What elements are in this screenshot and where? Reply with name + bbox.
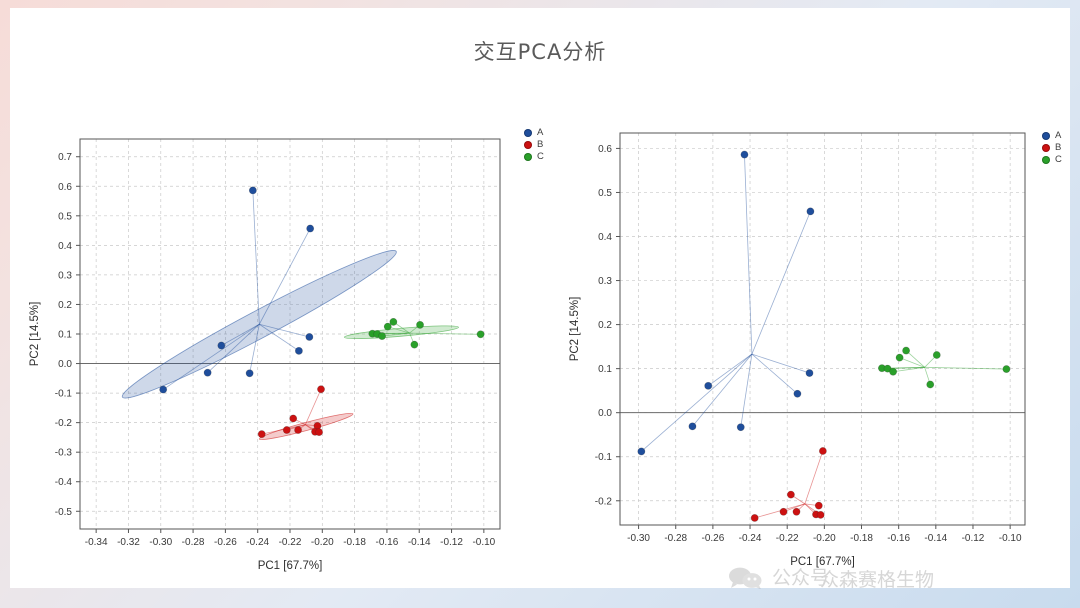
x-tick-label: -0.18 (343, 537, 366, 548)
legend-swatch-b-icon (524, 141, 532, 149)
legend-item-b[interactable]: B (524, 139, 544, 151)
data-point-c[interactable] (384, 323, 391, 330)
data-point-a[interactable] (737, 424, 744, 431)
legend-label-c: C (1055, 154, 1062, 166)
data-point-a[interactable] (638, 448, 645, 455)
y-tick-label: 0.4 (58, 241, 72, 252)
wechat-icon (728, 567, 764, 589)
data-point-a[interactable] (794, 390, 801, 397)
data-point-a[interactable] (246, 370, 253, 377)
y-tick-label: -0.3 (55, 448, 73, 459)
legend-item-a[interactable]: A (1042, 130, 1062, 142)
x-tick-label: -0.30 (627, 533, 650, 544)
x-tick-label: -0.20 (813, 533, 836, 544)
y-tick-label: 0.5 (598, 188, 612, 199)
legend-item-b[interactable]: B (1042, 142, 1062, 154)
data-point-a[interactable] (705, 382, 712, 389)
y-tick-label: 0.2 (598, 320, 612, 331)
data-point-a[interactable] (307, 225, 314, 232)
slide-page: 交互PCA分析 -0.34-0.32-0.30-0.28-0.26-0.24-0… (0, 0, 1080, 608)
data-point-b[interactable] (258, 431, 265, 438)
data-point-c[interactable] (927, 381, 934, 388)
pca-plot-right-svg[interactable]: -0.30-0.28-0.26-0.24-0.22-0.20-0.18-0.16… (545, 113, 1070, 573)
legend-swatch-c-icon (524, 153, 532, 161)
y-tick-label: 0.5 (58, 211, 72, 222)
data-point-c[interactable] (903, 347, 910, 354)
x-tick-label: -0.10 (999, 533, 1022, 544)
legend-item-c[interactable]: C (524, 151, 544, 163)
data-point-c[interactable] (933, 351, 940, 358)
x-tick-label: -0.24 (246, 537, 269, 548)
y-tick-label: 0.6 (58, 182, 72, 193)
data-point-c[interactable] (889, 368, 896, 375)
y-axis-label: PC2 [14.5%] (29, 302, 41, 367)
y-tick-label: -0.2 (595, 496, 613, 507)
x-tick-label: -0.14 (408, 537, 431, 548)
legend-item-a[interactable]: A (524, 127, 544, 139)
data-point-a[interactable] (218, 342, 225, 349)
x-tick-label: -0.30 (149, 537, 172, 548)
data-point-b[interactable] (317, 386, 324, 393)
data-point-a[interactable] (741, 151, 748, 158)
legend-label-c: C (537, 151, 544, 163)
y-tick-label: 0.3 (598, 276, 612, 287)
legend-swatch-c-icon (1042, 156, 1050, 164)
y-tick-label: 0.3 (58, 270, 72, 281)
data-point-b[interactable] (294, 426, 301, 433)
legend-item-c[interactable]: C (1042, 154, 1062, 166)
data-point-c[interactable] (411, 341, 418, 348)
data-point-a[interactable] (249, 187, 256, 194)
x-tick-label: -0.26 (701, 533, 724, 544)
x-tick-label: -0.12 (440, 537, 463, 548)
y-axis-label: PC2 [14.5%] (569, 297, 581, 362)
y-tick-label: -0.1 (55, 389, 73, 400)
x-tick-label: -0.14 (924, 533, 947, 544)
pca-plot-left-svg[interactable]: -0.34-0.32-0.30-0.28-0.26-0.24-0.22-0.20… (10, 113, 555, 573)
x-tick-label: -0.32 (117, 537, 140, 548)
x-tick-label: -0.20 (311, 537, 334, 548)
x-tick-label: -0.16 (887, 533, 910, 544)
y-tick-label: -0.4 (55, 477, 73, 488)
x-tick-label: -0.22 (776, 533, 799, 544)
y-tick-label: 0.2 (58, 300, 72, 311)
data-point-c[interactable] (378, 332, 385, 339)
x-tick-label: -0.26 (214, 537, 237, 548)
watermark: 公众号 众森赛格生物 (728, 561, 1068, 595)
legend-label-b: B (1055, 142, 1061, 154)
y-tick-label: 0.1 (58, 330, 72, 341)
y-tick-label: 0.7 (58, 152, 72, 163)
y-tick-label: -0.1 (595, 452, 613, 463)
x-tick-label: -0.10 (472, 537, 495, 548)
x-tick-label: -0.24 (739, 533, 762, 544)
pca-chart-right[interactable]: -0.30-0.28-0.26-0.24-0.22-0.20-0.18-0.16… (545, 113, 1070, 573)
data-point-b[interactable] (315, 428, 322, 435)
data-point-a[interactable] (160, 386, 167, 393)
y-tick-label: 0.6 (598, 144, 612, 155)
watermark-text-back: 众森赛格生物 (820, 565, 934, 592)
data-point-c[interactable] (896, 354, 903, 361)
data-point-b[interactable] (290, 415, 297, 422)
legend-swatch-b-icon (1042, 144, 1050, 152)
legend-label-b: B (537, 139, 543, 151)
x-tick-label: -0.18 (850, 533, 873, 544)
data-point-a[interactable] (807, 208, 814, 215)
pca-chart-left[interactable]: -0.34-0.32-0.30-0.28-0.26-0.24-0.22-0.20… (10, 113, 555, 573)
data-point-a[interactable] (689, 423, 696, 430)
x-tick-label: -0.28 (664, 533, 687, 544)
data-point-c[interactable] (416, 321, 423, 328)
y-tick-label: 0.0 (58, 359, 72, 370)
data-point-c[interactable] (1003, 365, 1010, 372)
y-tick-label: -0.5 (55, 507, 73, 518)
data-point-a[interactable] (806, 369, 813, 376)
x-axis-label: PC1 [67.7%] (258, 560, 323, 572)
data-point-b[interactable] (283, 426, 290, 433)
y-tick-label: 0.0 (598, 408, 612, 419)
data-point-b[interactable] (793, 508, 800, 515)
data-point-c[interactable] (477, 331, 484, 338)
x-tick-label: -0.28 (182, 537, 205, 548)
data-point-a[interactable] (204, 369, 211, 376)
page-title: 交互PCA分析 (10, 36, 1070, 66)
y-tick-label: 0.1 (598, 364, 612, 375)
data-point-b[interactable] (817, 511, 824, 518)
legend-right[interactable]: A B C (1042, 130, 1062, 166)
data-point-a[interactable] (306, 333, 313, 340)
y-tick-label: -0.2 (55, 418, 73, 429)
slide-canvas: 交互PCA分析 -0.34-0.32-0.30-0.28-0.26-0.24-0… (10, 8, 1070, 588)
x-tick-label: -0.16 (376, 537, 399, 548)
x-tick-label: -0.22 (279, 537, 302, 548)
data-point-b[interactable] (780, 508, 787, 515)
legend-swatch-a-icon (524, 129, 532, 137)
data-point-a[interactable] (295, 347, 302, 354)
legend-left[interactable]: A B C (524, 127, 544, 163)
data-point-b[interactable] (787, 491, 794, 498)
legend-label-a: A (537, 127, 543, 139)
y-tick-label: 0.4 (598, 232, 612, 243)
x-tick-label: -0.34 (85, 537, 108, 548)
legend-swatch-a-icon (1042, 132, 1050, 140)
x-tick-label: -0.12 (962, 533, 985, 544)
legend-label-a: A (1055, 130, 1061, 142)
data-point-b[interactable] (751, 514, 758, 521)
data-point-b[interactable] (815, 502, 822, 509)
data-point-b[interactable] (819, 447, 826, 454)
